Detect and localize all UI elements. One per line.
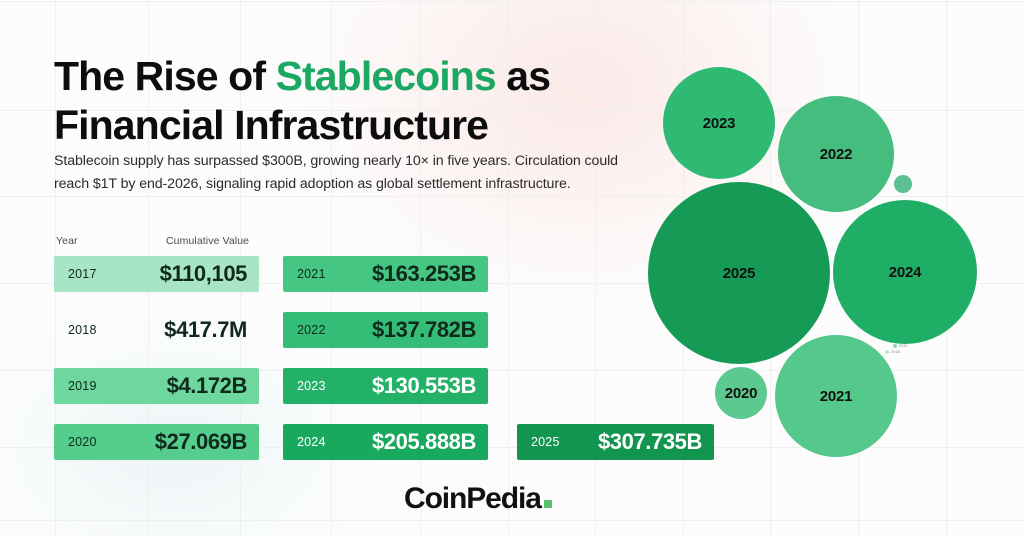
micro-legend-dot-icon <box>885 350 889 354</box>
subtitle-text: Stablecoin supply has surpassed $300B, g… <box>54 150 654 196</box>
micro-legend-dot-icon <box>893 344 897 348</box>
row-value-label: $137.782B <box>372 317 476 343</box>
micro-legend-item: 2018 <box>885 349 923 355</box>
coinpedia-logo: CoinPedia <box>404 482 552 516</box>
title-line-2: Financial Infrastructure <box>54 102 488 148</box>
table-row: 2017$110,105 <box>54 256 259 292</box>
row-value-label: $205.888B <box>372 429 476 455</box>
bubble-2021: 2021 <box>775 335 897 457</box>
title-part-2: as <box>496 53 550 99</box>
row-value-label: $307.735B <box>598 429 702 455</box>
column-header-value: Cumulative Value <box>166 235 249 247</box>
table-row: 2020$27.069B <box>54 424 259 460</box>
title-accent-word: Stablecoins <box>276 53 496 99</box>
bubble-year-label: 2024 <box>889 264 922 281</box>
logo-dot-icon <box>544 500 552 508</box>
micro-legend-label: 2018 <box>891 349 900 355</box>
micro-legend: 20172018 <box>885 343 923 361</box>
row-year-label: 2025 <box>531 435 560 449</box>
grid-line-horizontal <box>0 520 1024 521</box>
table-row: 2023$130.553B <box>283 368 488 404</box>
bubble-2020: 2020 <box>715 367 767 419</box>
row-year-label: 2019 <box>68 379 97 393</box>
table-row: 2025$307.735B <box>517 424 714 460</box>
bubble-2024: 2024 <box>833 200 977 344</box>
column-header-year: Year <box>56 235 78 247</box>
bubble-year-label: 2020 <box>725 385 758 402</box>
page-title: The Rise of Stablecoins as Financial Inf… <box>54 52 664 150</box>
row-year-label: 2018 <box>68 323 97 337</box>
row-year-label: 2022 <box>297 323 326 337</box>
table-row: 2022$137.782B <box>283 312 488 348</box>
row-value-label: $4.172B <box>167 373 247 399</box>
bubble-year-label: 2023 <box>703 115 736 132</box>
row-value-label: $27.069B <box>155 429 247 455</box>
row-value-label: $130.553B <box>372 373 476 399</box>
row-value-label: $110,105 <box>160 261 247 287</box>
bubble-unlabeled <box>894 175 912 193</box>
table-row: 2019$4.172B <box>54 368 259 404</box>
grid-line-horizontal <box>0 1 1024 2</box>
table-row: 2024$205.888B <box>283 424 488 460</box>
row-year-label: 2017 <box>68 267 97 281</box>
bubble-year-label: 2025 <box>723 265 756 282</box>
title-part-1: The Rise of <box>54 53 276 99</box>
row-year-label: 2020 <box>68 435 97 449</box>
infographic-canvas: The Rise of Stablecoins as Financial Inf… <box>0 0 1024 536</box>
row-year-label: 2024 <box>297 435 326 449</box>
table-row: 2021$163.253B <box>283 256 488 292</box>
row-year-label: 2023 <box>297 379 326 393</box>
table-row: 2018$417.7M <box>54 312 259 348</box>
bubble-2022: 2022 <box>778 96 894 212</box>
bubble-year-label: 2022 <box>820 146 853 163</box>
bubble-2023: 2023 <box>663 67 775 179</box>
bubble-2025: 2025 <box>648 182 830 364</box>
row-value-label: $417.7M <box>164 317 247 343</box>
micro-legend-label: 2017 <box>899 343 908 349</box>
row-year-label: 2021 <box>297 267 326 281</box>
bubble-year-label: 2021 <box>820 388 853 405</box>
logo-text: CoinPedia <box>404 482 541 515</box>
row-value-label: $163.253B <box>372 261 476 287</box>
